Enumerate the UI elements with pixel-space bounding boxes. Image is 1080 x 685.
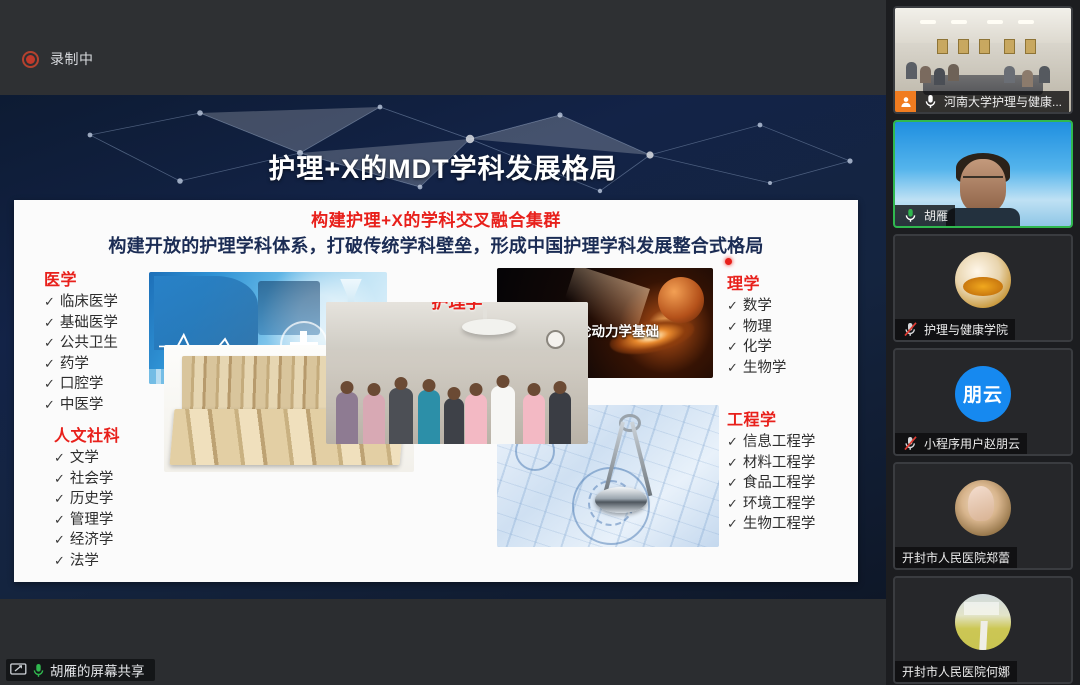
discipline-column-medicine: 医学 ✓临床医学 ✓基础医学 ✓公共卫生 ✓药学 ✓口腔学 ✓中医学 [44, 266, 118, 415]
category-list: ✓临床医学 ✓基础医学 ✓公共卫生 ✓药学 ✓口腔学 ✓中医学 [44, 292, 118, 415]
list-item: ✓生物工程学 [727, 514, 815, 535]
check-icon: ✓ [44, 315, 55, 330]
check-icon: ✓ [727, 455, 738, 470]
participant-name: 小程序用户赵朋云 [924, 435, 1020, 452]
list-item: ✓环境工程学 [727, 494, 815, 515]
participant-namebar: 开封市人民医院郑蕾 [895, 547, 1017, 568]
check-icon: ✓ [44, 335, 55, 350]
participant-rail[interactable]: 河南大学护理与健康... 胡雁 [886, 0, 1080, 685]
list-item: ✓材料工程学 [727, 453, 815, 474]
participant-tile[interactable]: 开封市人民医院何娜 [893, 576, 1073, 684]
recording-indicator: 录制中 [22, 49, 94, 69]
list-item: ✓化学 [727, 337, 786, 358]
check-icon: ✓ [44, 294, 55, 309]
participant-name: 开封市人民医院郑蕾 [902, 549, 1010, 566]
avatar [955, 480, 1011, 536]
check-icon: ✓ [54, 553, 65, 568]
category-list: ✓文学 ✓社会学 ✓历史学 ✓管理学 ✓经济学 ✓法学 [54, 448, 120, 571]
list-item: ✓物理 [727, 317, 786, 338]
screen-share-label-text: 胡雁的屏幕共享 [50, 660, 145, 680]
participant-namebar: 开封市人民医院何娜 [895, 661, 1017, 682]
slide-headline-blue: 构建开放的护理学科体系，打破传统学科壁垒，形成中国护理学科发展整合式格局 [14, 232, 858, 258]
record-dot-icon [22, 51, 39, 68]
check-icon: ✓ [727, 339, 738, 354]
meeting-window: 录制中 [0, 0, 1080, 685]
participant-name: 开封市人民医院何娜 [902, 663, 1010, 680]
nursing-photo-caption: 护理学 [326, 302, 588, 313]
screen-share-icon [10, 663, 27, 677]
check-icon: ✓ [44, 376, 55, 391]
category-title: 人文社科 [54, 422, 120, 446]
cursor-dot-icon [725, 258, 732, 265]
participant-tile[interactable]: 朋云 小程序用户赵朋云 [893, 348, 1073, 456]
participant-namebar: 护理与健康学院 [895, 319, 1015, 340]
list-item: ✓口腔学 [44, 374, 118, 395]
list-item: ✓基础医学 [44, 313, 118, 334]
participant-namebar: 胡雁 [895, 205, 955, 226]
recording-label: 录制中 [50, 49, 94, 69]
participant-tile[interactable]: 河南大学护理与健康... [893, 6, 1073, 114]
category-list: ✓信息工程学 ✓材料工程学 ✓食品工程学 ✓环境工程学 ✓生物工程学 [727, 432, 815, 535]
slide-headline-red: 构建护理+X的学科交叉融合集群 [14, 206, 858, 231]
check-icon: ✓ [727, 360, 738, 375]
check-icon: ✓ [727, 516, 738, 531]
list-item: ✓数学 [727, 296, 786, 317]
check-icon: ✓ [44, 397, 55, 412]
check-icon: ✓ [727, 319, 738, 334]
slide-content-card: 构建护理+X的学科交叉融合集群 构建开放的护理学科体系，打破传统学科壁垒，形成中… [14, 200, 858, 582]
list-item: ✓经济学 [54, 530, 120, 551]
check-icon: ✓ [54, 450, 65, 465]
participant-name: 河南大学护理与健康... [944, 93, 1062, 110]
list-item: ✓管理学 [54, 510, 120, 531]
participant-name: 护理与健康学院 [924, 321, 1008, 338]
avatar [955, 252, 1011, 308]
avatar: 朋云 [955, 366, 1011, 422]
microphone-icon [900, 208, 920, 223]
participant-tile[interactable]: 胡雁 [893, 120, 1073, 228]
list-item: ✓信息工程学 [727, 432, 815, 453]
list-item: ✓社会学 [54, 469, 120, 490]
discipline-column-humanities: 人文社科 ✓文学 ✓社会学 ✓历史学 ✓管理学 ✓经济学 ✓法学 [54, 422, 120, 571]
nursing-lab-photo: 护理学 [326, 302, 588, 444]
list-item: ✓历史学 [54, 489, 120, 510]
list-item: ✓食品工程学 [727, 473, 815, 494]
microphone-muted-icon [900, 436, 920, 451]
list-item: ✓临床医学 [44, 292, 118, 313]
category-list: ✓数学 ✓物理 ✓化学 ✓生物学 [727, 296, 786, 378]
participant-namebar: 河南大学护理与健康... [895, 91, 1069, 112]
discipline-column-engineering: 工程学 ✓信息工程学 ✓材料工程学 ✓食品工程学 ✓环境工程学 ✓生物工程学 [727, 406, 815, 535]
category-title: 医学 [44, 266, 118, 290]
list-item: ✓文学 [54, 448, 120, 469]
check-icon: ✓ [54, 491, 65, 506]
microphone-icon [33, 663, 44, 678]
check-icon: ✓ [727, 496, 738, 511]
list-item: ✓法学 [54, 551, 120, 572]
discipline-column-science: 理学 ✓数学 ✓物理 ✓化学 ✓生物学 [727, 270, 786, 378]
screen-share-label: 胡雁的屏幕共享 [6, 659, 155, 681]
microphone-muted-icon [900, 322, 920, 337]
presentation-slide: 护理+X的MDT学科发展格局 构建护理+X的学科交叉融合集群 构建开放的护理学科… [0, 95, 886, 599]
category-title: 工程学 [727, 406, 815, 430]
category-title: 理学 [727, 270, 786, 294]
participant-name: 胡雁 [924, 207, 948, 224]
avatar [955, 594, 1011, 650]
list-item: ✓药学 [44, 354, 118, 375]
check-icon: ✓ [727, 434, 738, 449]
check-icon: ✓ [54, 471, 65, 486]
participant-tile[interactable]: 护理与健康学院 [893, 234, 1073, 342]
shared-screen-area[interactable]: 护理+X的MDT学科发展格局 构建护理+X的学科交叉融合集群 构建开放的护理学科… [0, 95, 886, 685]
microphone-icon [920, 94, 940, 109]
list-item: ✓公共卫生 [44, 333, 118, 354]
person-icon [895, 91, 916, 112]
list-item: ✓中医学 [44, 395, 118, 416]
check-icon: ✓ [54, 532, 65, 547]
top-bar: 录制中 [0, 0, 886, 95]
check-icon: ✓ [727, 298, 738, 313]
check-icon: ✓ [44, 356, 55, 371]
participant-namebar: 小程序用户赵朋云 [895, 433, 1027, 454]
list-item: ✓生物学 [727, 358, 786, 379]
participant-tile[interactable]: 开封市人民医院郑蕾 [893, 462, 1073, 570]
check-icon: ✓ [727, 475, 738, 490]
check-icon: ✓ [54, 512, 65, 527]
slide-title: 护理+X的MDT学科发展格局 [0, 147, 886, 186]
